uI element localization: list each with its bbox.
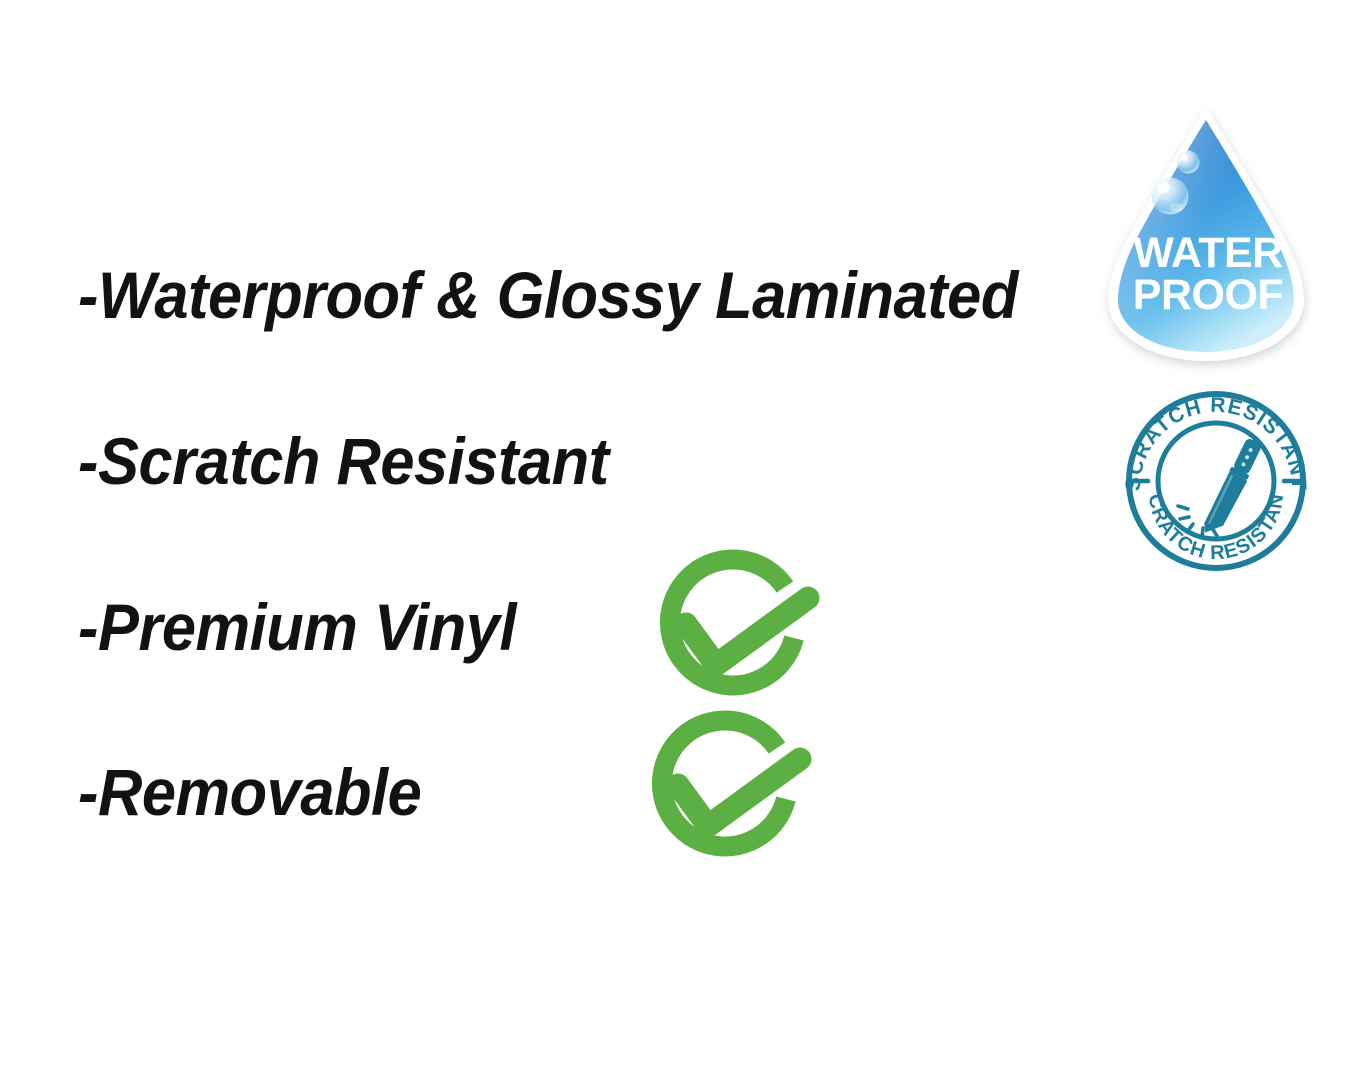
bubble-small-icon	[1177, 151, 1200, 174]
green-check-badge-premium-vinyl	[640, 552, 840, 712]
green-check-badge-removable	[632, 713, 832, 873]
waterproof-drop-badge: WATER PROOF	[1098, 103, 1318, 365]
feature-item-scratch-resistant: -Scratch Resistant	[78, 428, 609, 494]
scratch-resistant-stamp-badge: SCRATCH RESISTANT SCRATCH RESISTANT	[1118, 382, 1314, 574]
bubble-large-glint-lower	[1169, 203, 1183, 211]
bubble-small-glint	[1181, 154, 1188, 161]
waterproof-label-line1: WATER	[1133, 229, 1283, 277]
feature-item-premium-vinyl: -Premium Vinyl	[78, 594, 516, 660]
feature-item-waterproof-glossy-laminated: -Waterproof & Glossy Laminated	[78, 262, 1018, 328]
svg-text:SCRATCH RESISTANT: SCRATCH RESISTANT	[1122, 394, 1311, 492]
promo-feature-graphic: -Waterproof & Glossy Laminated -Scratch …	[0, 0, 1359, 1080]
feature-item-removable: -Removable	[78, 759, 421, 825]
waterproof-label-line2: PROOF	[1133, 271, 1283, 319]
scratch-text-top: SCRATCH RESISTANT	[1122, 394, 1311, 492]
